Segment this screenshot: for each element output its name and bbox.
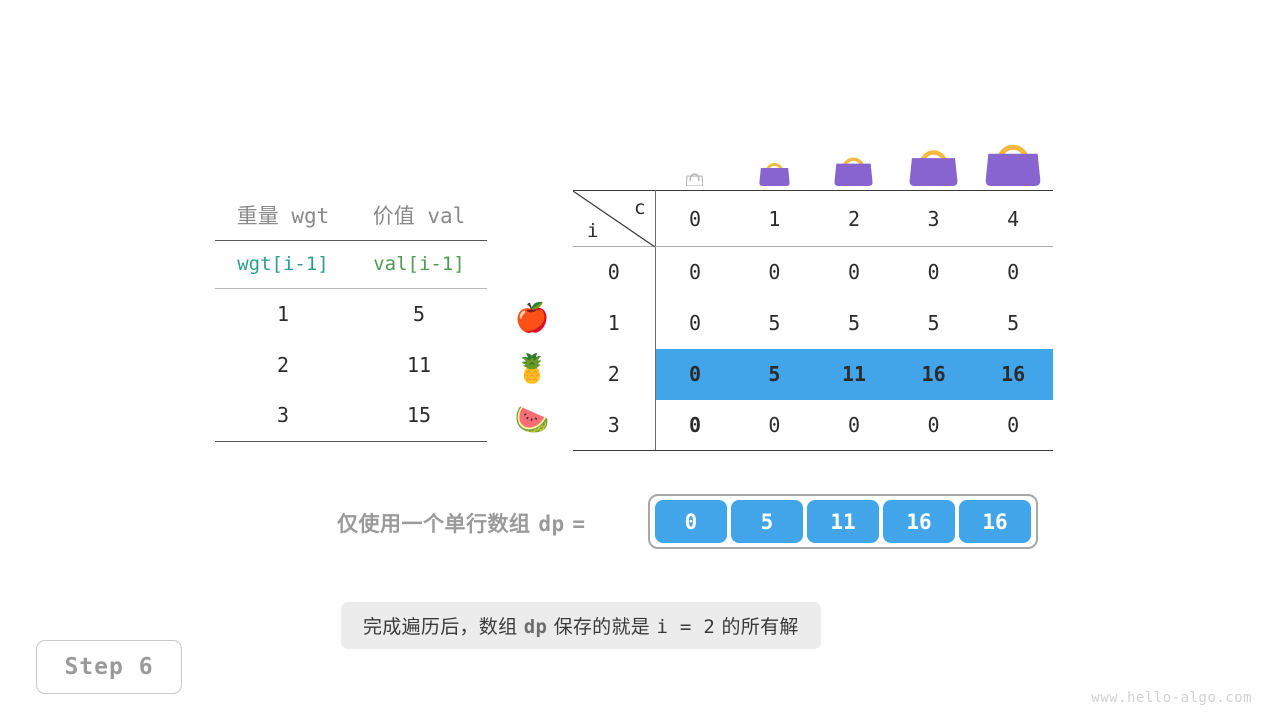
dp-array-strip: 0 5 11 16 16 <box>648 494 1038 549</box>
slide-canvas: 重量 wgt 价值 val wgt[i-1] val[i-1] 1 5 2 11… <box>0 0 1280 720</box>
dp-array-label: 仅使用一个单行数组 dp = <box>337 508 586 538</box>
step-badge-label: Step 6 <box>64 654 153 680</box>
step-badge: Step 6 <box>36 640 182 694</box>
left-table-header-row: 重量 wgt 价值 val <box>215 190 487 240</box>
dp-array-cell-4: 16 <box>959 500 1031 543</box>
dp-col-header-1: 1 <box>735 191 815 247</box>
caption-banner: 完成遍历后，数组 dp 保存的就是 i = 2 的所有解 <box>341 602 821 649</box>
capacity-bag-icon-row <box>655 120 1053 188</box>
dp-cell-0-1: 0 <box>735 247 815 298</box>
caption-part2: 保存的就是 <box>554 616 651 638</box>
dp-row-index-3: 3 <box>573 400 655 451</box>
dp-array-label-text: 仅使用一个单行数组 <box>337 512 531 536</box>
dp-row-index-1: 1 <box>573 298 655 349</box>
dp-cell-1-3: 5 <box>894 298 974 349</box>
dp-cell-3-3: 0 <box>894 400 974 451</box>
caption-part1: 完成遍历后，数组 <box>363 616 517 638</box>
watermark: www.hello-algo.com <box>1091 690 1252 706</box>
cell-wgt-1: 1 <box>215 288 351 339</box>
dp-cell-2-4: 16 <box>973 349 1053 400</box>
axis-corner-cell: c i <box>573 191 655 247</box>
dp-matrix-table: c i 0 1 2 3 4 0 0 0 0 0 0 <box>573 190 1053 451</box>
dp-cell-3-4: 0 <box>973 400 1053 451</box>
table-row-highlighted: 2 0 5 11 16 16 <box>573 349 1053 400</box>
header-value: 价值 val <box>351 190 487 240</box>
dp-col-header-0: 0 <box>655 191 735 247</box>
dp-cell-2-1: 5 <box>735 349 815 400</box>
dp-row-index-0: 0 <box>573 247 655 298</box>
cell-wgt-2: 2 <box>215 339 351 390</box>
dp-array-label-equals: = <box>572 512 585 536</box>
dp-col-header-2: 2 <box>814 191 894 247</box>
dp-cell-0-2: 0 <box>814 247 894 298</box>
dp-cell-0-3: 0 <box>894 247 974 298</box>
item-icons-column: 🍎 🍍 🍉 <box>508 292 556 445</box>
cell-val-3: 15 <box>351 390 487 441</box>
dp-cell-2-2: 11 <box>814 349 894 400</box>
table-row: 2 11 <box>215 339 487 390</box>
dp-cell-3-0: 0 <box>655 400 735 451</box>
dp-array-cell-1: 5 <box>731 500 803 543</box>
cell-wgt-3: 3 <box>215 390 351 441</box>
table-row: 1 5 <box>215 288 487 339</box>
dp-col-header-3: 3 <box>894 191 974 247</box>
handbag-icon-3 <box>894 120 974 188</box>
dp-array-cell-3: 16 <box>883 500 955 543</box>
dp-array-cell-0: 0 <box>655 500 727 543</box>
dp-cell-1-4: 5 <box>973 298 1053 349</box>
handbag-icon-2 <box>814 120 894 188</box>
axis-label-c: c <box>634 197 645 219</box>
cell-val-1: 5 <box>351 288 487 339</box>
header-weight: 重量 wgt <box>215 190 351 240</box>
weights-values-table: 重量 wgt 价值 val wgt[i-1] val[i-1] 1 5 2 11… <box>215 190 487 442</box>
dp-cell-1-0: 0 <box>655 298 735 349</box>
apple-icon: 🍎 <box>508 292 556 343</box>
caption-part3: 的所有解 <box>721 616 798 638</box>
pineapple-icon: 🍍 <box>508 343 556 394</box>
caption-dp: dp <box>524 616 547 638</box>
handbag-icon-0 <box>655 120 735 188</box>
dp-col-header-4: 4 <box>973 191 1053 247</box>
table-row: 1 0 5 5 5 5 <box>573 298 1053 349</box>
table-row: 3 15 <box>215 390 487 441</box>
handbag-icon-1 <box>735 120 815 188</box>
table-row: 3 0 0 0 0 0 <box>573 400 1053 451</box>
caption-expression: i = 2 <box>656 616 715 638</box>
dp-cell-3-1: 0 <box>735 400 815 451</box>
left-table-subheader-row: wgt[i-1] val[i-1] <box>215 240 487 288</box>
dp-cell-3-2: 0 <box>814 400 894 451</box>
dp-array-cell-2: 11 <box>807 500 879 543</box>
dp-cell-0-0: 0 <box>655 247 735 298</box>
dp-cell-1-2: 5 <box>814 298 894 349</box>
dp-array-label-varname: dp <box>538 512 564 536</box>
watermelon-icon: 🍉 <box>508 394 556 445</box>
dp-header-row: c i 0 1 2 3 4 <box>573 191 1053 247</box>
subheader-wgt-expr: wgt[i-1] <box>215 240 351 288</box>
dp-cell-0-4: 0 <box>973 247 1053 298</box>
table-row: 0 0 0 0 0 0 <box>573 247 1053 298</box>
dp-cell-1-1: 5 <box>735 298 815 349</box>
cell-val-2: 11 <box>351 339 487 390</box>
axis-label-i: i <box>587 220 598 242</box>
dp-cell-2-3: 16 <box>894 349 974 400</box>
dp-cell-2-0: 0 <box>655 349 735 400</box>
handbag-icon-4 <box>973 120 1053 188</box>
dp-row-index-2: 2 <box>573 349 655 400</box>
subheader-val-expr: val[i-1] <box>351 240 487 288</box>
